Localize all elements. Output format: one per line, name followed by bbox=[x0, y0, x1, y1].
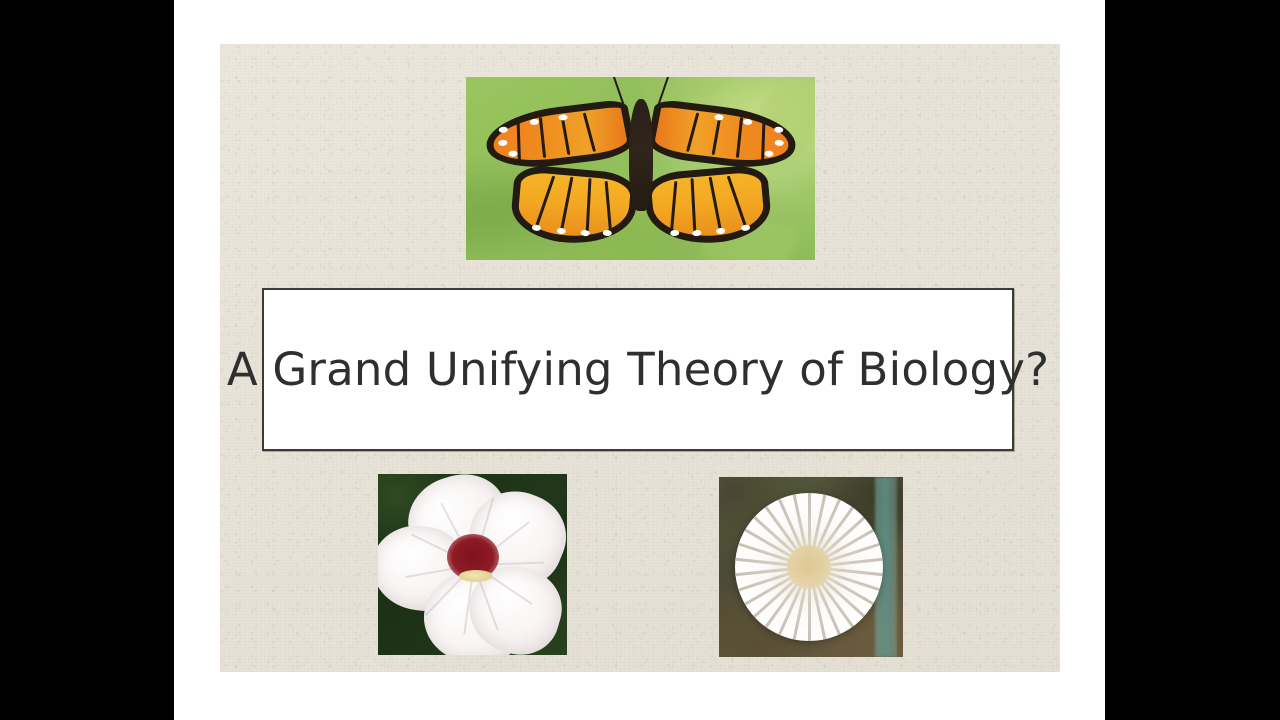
mushroom-photo[interactable] bbox=[719, 477, 903, 657]
letterbox-bar-right bbox=[1105, 0, 1280, 720]
slide-title-box[interactable]: A Grand Unifying Theory of Biology? bbox=[262, 288, 1014, 451]
flower-stamen bbox=[459, 570, 493, 582]
screenshot-viewport: A Grand Unifying Theory of Biology? bbox=[0, 0, 1280, 720]
hibiscus-photo[interactable] bbox=[378, 474, 567, 655]
slide-page: A Grand Unifying Theory of Biology? bbox=[174, 0, 1105, 720]
butterfly-forewing-left bbox=[480, 99, 636, 174]
slide-title: A Grand Unifying Theory of Biology? bbox=[227, 343, 1049, 396]
letterbox-bar-left bbox=[0, 0, 174, 720]
butterfly-hindwing-right bbox=[643, 164, 773, 249]
butterfly-forewing-right bbox=[644, 99, 800, 174]
butterfly-figure bbox=[476, 93, 806, 251]
mushroom-center bbox=[787, 545, 831, 589]
butterfly-photo[interactable] bbox=[466, 77, 815, 260]
mushroom-cap bbox=[735, 493, 883, 641]
butterfly-hindwing-left bbox=[509, 164, 639, 249]
presentation-slide: A Grand Unifying Theory of Biology? bbox=[220, 44, 1060, 672]
butterfly-body bbox=[629, 99, 653, 211]
